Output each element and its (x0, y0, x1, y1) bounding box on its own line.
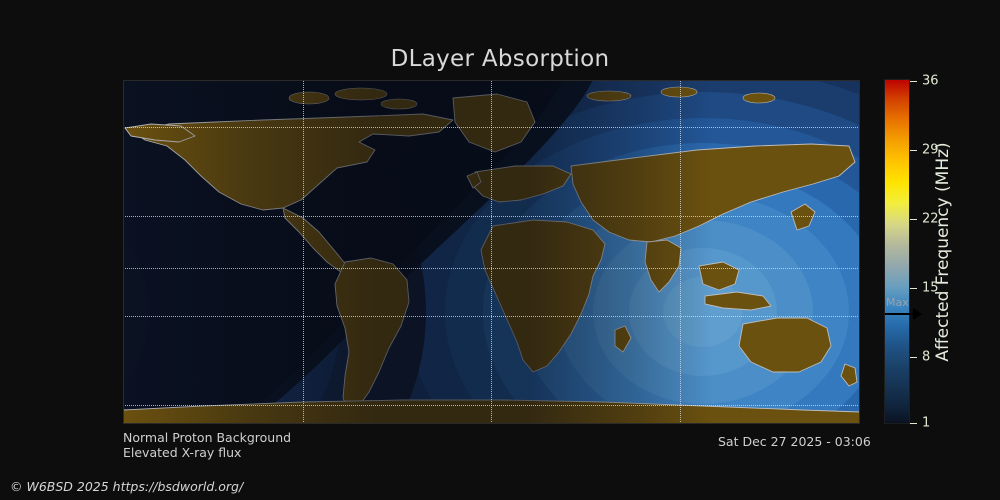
credit-text: © W6BSD 2025 https://bsdworld.org/ (10, 479, 243, 494)
colorbar-tick-1 (910, 423, 917, 424)
colorbar-axis-label: Affected Frequency (MHz) (930, 80, 956, 424)
xray-status-text: Elevated X-ray flux (123, 445, 241, 460)
colorbar-tick-36 (910, 81, 917, 82)
gridline-longitude-prime (491, 80, 492, 424)
gridline-longitude-west90 (303, 80, 304, 424)
proton-status-text: Normal Proton Background (123, 430, 291, 445)
max-arrow-icon (913, 308, 922, 320)
colorbar-tick-15 (910, 288, 917, 289)
timestamp-text: Sat Dec 27 2025 - 03:06 (718, 434, 871, 449)
colorbar-tick-29 (910, 150, 917, 151)
colorbar[interactable]: 36 29 22 15 8 1 (884, 79, 910, 424)
world-map[interactable] (123, 80, 860, 424)
colorbar-tick-22 (910, 219, 917, 220)
dlayer-absorption-map-page: DLayer Absorption (0, 0, 1000, 500)
colorbar-tick-8 (910, 357, 917, 358)
colorbar-outline (884, 79, 910, 424)
page-title: DLayer Absorption (0, 46, 1000, 72)
gridline-longitude-east90 (680, 80, 681, 424)
